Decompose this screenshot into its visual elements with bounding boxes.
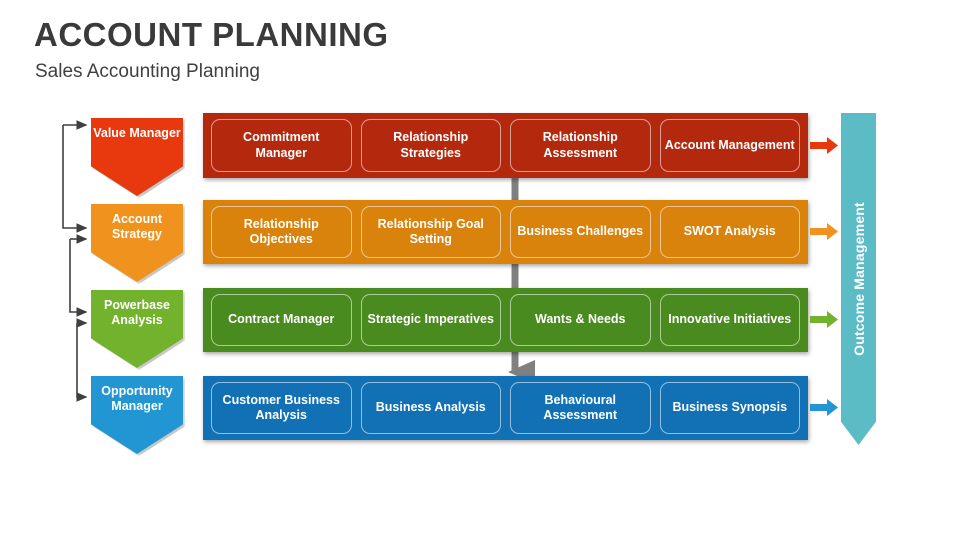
value-manager-row: Commitment Manager Relationship Strategi… [203, 113, 808, 178]
stage-opportunity-manager[interactable]: Opportunity Manager [91, 376, 183, 454]
cell-swot-analysis[interactable]: SWOT Analysis [660, 206, 801, 258]
cell-wants-and-needs[interactable]: Wants & Needs [510, 294, 651, 346]
cell-relationship-goal-setting[interactable]: Relationship Goal Setting [361, 206, 502, 258]
stage-label: Powerbase Analysis [91, 298, 183, 328]
row-arrow-orange-icon [810, 223, 838, 240]
vertical-flow-connector [495, 150, 535, 390]
page-title: ACCOUNT PLANNING [34, 16, 388, 54]
cell-strategic-imperatives[interactable]: Strategic Imperatives [361, 294, 502, 346]
account-strategy-row: Relationship Objectives Relationship Goa… [203, 200, 808, 264]
cell-innovative-initiatives[interactable]: Innovative Initiatives [660, 294, 801, 346]
cell-business-synopsis[interactable]: Business Synopsis [660, 382, 801, 434]
opportunity-manager-row: Customer Business Analysis Business Anal… [203, 376, 808, 440]
row-arrow-red-icon [810, 137, 838, 154]
cell-relationship-assessment[interactable]: Relationship Assessment [510, 119, 651, 172]
row-arrow-blue-icon [810, 399, 838, 416]
cell-business-analysis[interactable]: Business Analysis [361, 382, 502, 434]
slide-canvas: ACCOUNT PLANNING Sales Accounting Planni… [0, 0, 960, 540]
cell-contract-manager[interactable]: Contract Manager [211, 294, 352, 346]
cell-relationship-objectives[interactable]: Relationship Objectives [211, 206, 352, 258]
cell-relationship-strategies[interactable]: Relationship Strategies [361, 119, 502, 172]
outcome-management-label: Outcome Management [851, 202, 867, 356]
row-arrow-green-icon [810, 311, 838, 328]
outcome-management-label-wrap: Outcome Management [841, 113, 876, 445]
cell-business-challenges[interactable]: Business Challenges [510, 206, 651, 258]
page-subtitle: Sales Accounting Planning [35, 61, 260, 83]
stage-label: Value Manager [93, 126, 181, 141]
powerbase-analysis-row: Contract Manager Strategic Imperatives W… [203, 288, 808, 352]
stage-label: Opportunity Manager [91, 384, 183, 414]
cell-behavioural-assessment[interactable]: Behavioural Assessment [510, 382, 651, 434]
cell-customer-business-analysis[interactable]: Customer Business Analysis [211, 382, 352, 434]
stage-label: Account Strategy [91, 212, 183, 242]
cell-commitment-manager[interactable]: Commitment Manager [211, 119, 352, 172]
cell-account-management[interactable]: Account Management [660, 119, 801, 172]
